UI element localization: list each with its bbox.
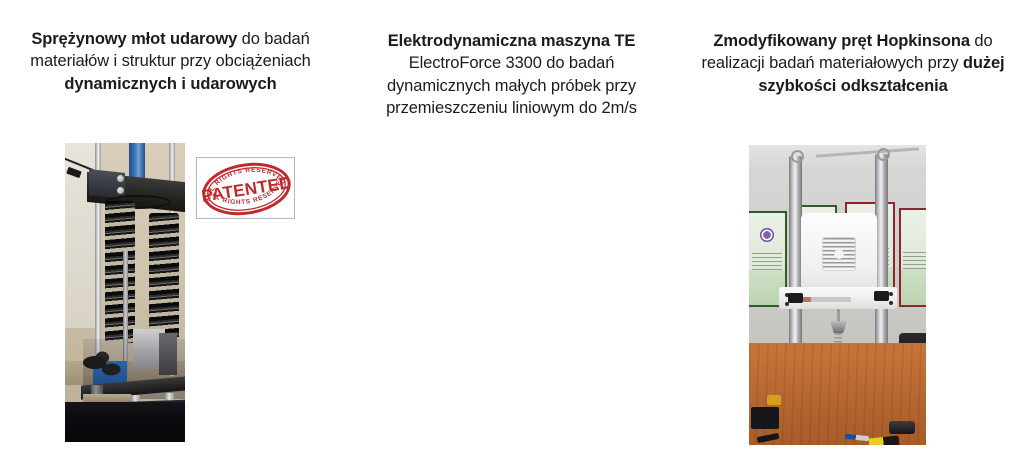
column-hopkinson-bar: Zmodyfikowany pręt Hopkinsona do realiza… [682, 0, 1024, 473]
caption-1-lead-bold: Sprężynowy młot udarowy [31, 30, 237, 48]
photo-1-bolt-upper [117, 175, 124, 182]
column-spring-impact-hammer: Sprężynowy młot udarowy do badań materia… [0, 0, 341, 473]
caption-3-lead-bold: Zmodyfikowany pręt Hopkinsona [713, 32, 970, 50]
caption-2-lead-bold: Elektrodynamiczna maszyna TE [388, 32, 636, 50]
caption-2-mid: ElectroForce 3300 do badań dynamicznych … [386, 54, 637, 117]
photo-1-control-unit-side [159, 333, 177, 375]
caption-spring-impact-hammer: Sprężynowy młot udarowy do badań materia… [0, 28, 341, 95]
patented-stamp: ALL RIGHTS RESERVED ALL RIGHTS RESERVED … [196, 157, 295, 219]
slide-root: Sprężynowy młot udarowy do badań materia… [0, 0, 1024, 473]
photo-1-coil-spring-right [149, 213, 179, 341]
photo-1-crosshead-bracket [89, 169, 125, 199]
photo-1-granite-base-table [65, 402, 185, 442]
photo-spring-impact-hammer [65, 143, 185, 442]
photo-1-bolt-lower [117, 187, 124, 194]
photo-1-hydraulic-hoses [79, 349, 131, 383]
column-electroforce-3300: Elektrodynamiczna maszyna TE ElectroForc… [341, 0, 682, 473]
caption-hopkinson-bar: Zmodyfikowany pręt Hopkinsona do realiza… [682, 30, 1024, 97]
caption-1-tail-bold: dynamicznych i udarowych [64, 75, 276, 93]
photo-1-coil-spring-left [105, 201, 135, 343]
patented-stamp-inner: ALL RIGHTS RESERVED ALL RIGHTS RESERVED … [197, 158, 294, 218]
patented-stamp-graphic: ALL RIGHTS RESERVED ALL RIGHTS RESERVED … [199, 159, 294, 219]
caption-electroforce-3300: Elektrodynamiczna maszyna TE ElectroForc… [341, 30, 682, 119]
